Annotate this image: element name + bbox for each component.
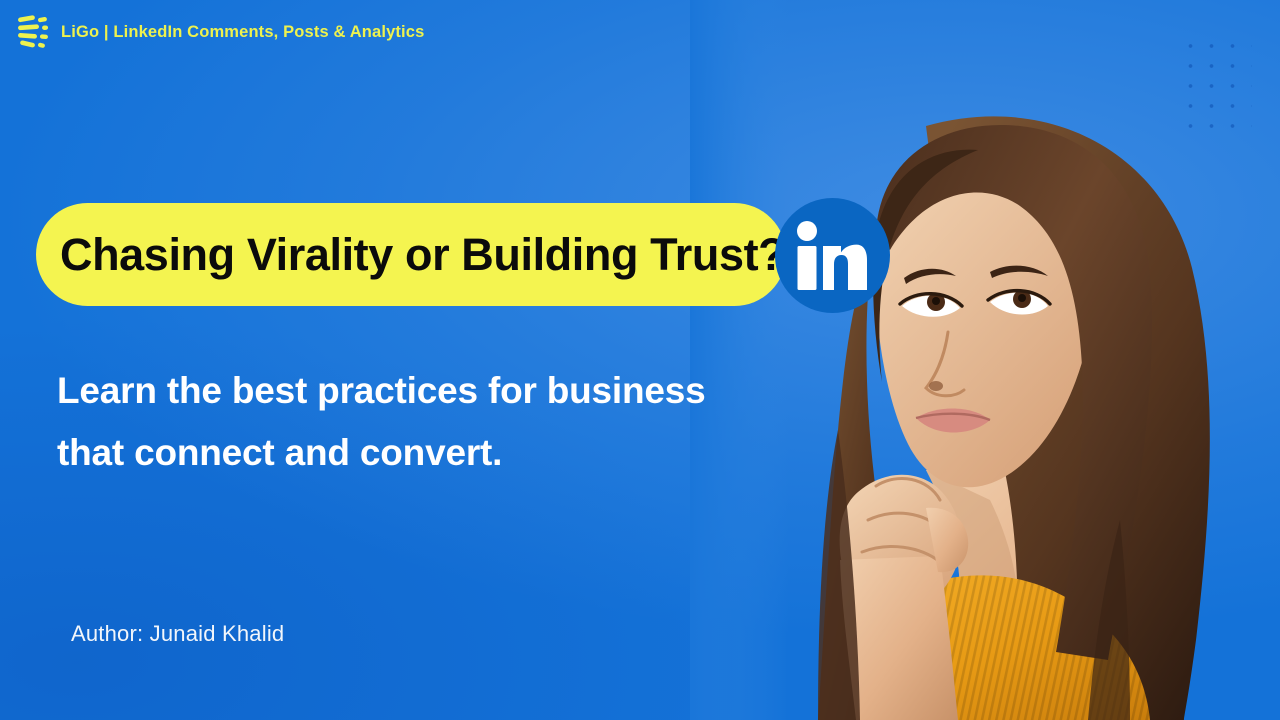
headline-pill: Chasing Virality or Building Trust? [36, 203, 786, 306]
author-credit: Author: Junaid Khalid [71, 621, 284, 647]
linkedin-in-icon[interactable] [775, 198, 890, 313]
subtitle-line-2: that connect and convert. [57, 422, 847, 484]
subtitle: Learn the best practices for business th… [57, 360, 847, 484]
brand-title: LiGo | LinkedIn Comments, Posts & Analyt… [61, 23, 424, 42]
ligo-fan-logo-icon [16, 14, 50, 50]
promo-slide: LiGo | LinkedIn Comments, Posts & Analyt… [0, 0, 1280, 720]
subtitle-line-1: Learn the best practices for business [57, 360, 847, 422]
page-title: Chasing Virality or Building Trust? [60, 232, 785, 277]
dot-grid-icon [1178, 34, 1252, 138]
brand-header: LiGo | LinkedIn Comments, Posts & Analyt… [16, 14, 424, 50]
